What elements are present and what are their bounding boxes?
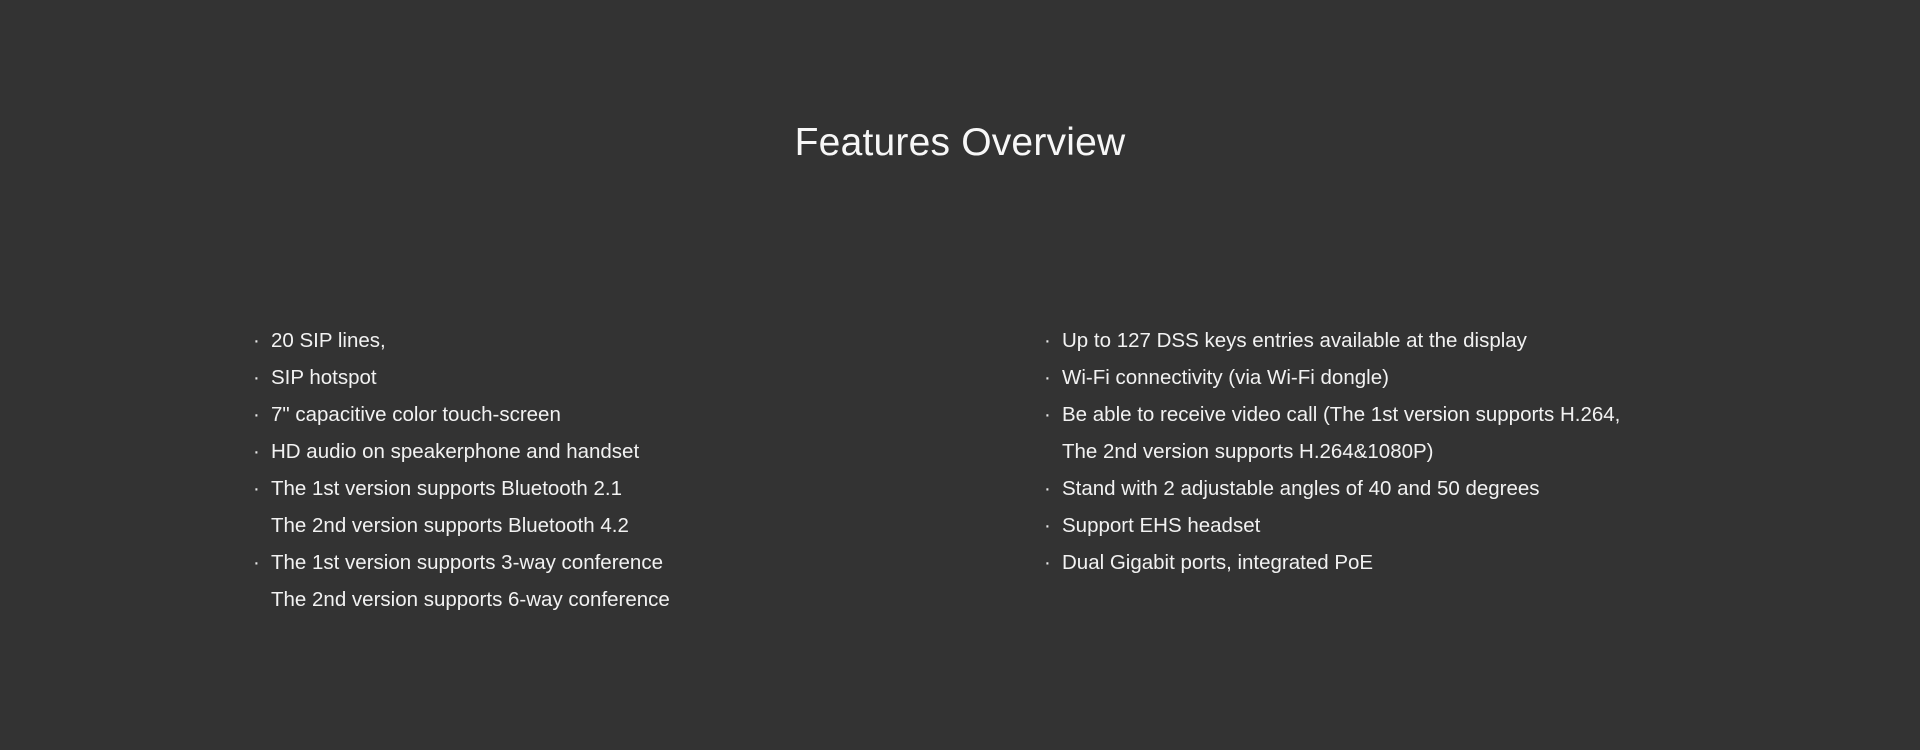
feature-bullet-line: ·Stand with 2 adjustable angles of 40 an… [1044,470,1884,507]
feature-columns: ·20 SIP lines,·SIP hotspot·7" capacitive… [0,322,1920,652]
slide-canvas: Features Overview ·20 SIP lines,·SIP hot… [0,0,1920,750]
bullet-dot-icon: · [1044,470,1058,507]
bullet-dot-icon: · [253,433,267,470]
bullet-dot-icon: · [253,396,267,433]
feature-text: SIP hotspot [271,366,377,389]
page-title: Features Overview [0,120,1920,167]
feature-continuation-line: The 2nd version supports H.264&1080P) [1044,433,1884,470]
feature-text: 7" capacitive color touch-screen [271,403,561,426]
feature-item: ·The 1st version supports Bluetooth 2.1T… [253,470,1013,544]
bullet-dot-icon: · [253,322,267,359]
feature-bullet-line: ·SIP hotspot [253,359,1013,396]
bullet-dot-icon: · [1044,396,1058,433]
feature-bullet-line: ·Wi-Fi connectivity (via Wi-Fi dongle) [1044,359,1884,396]
feature-item: ·Wi-Fi connectivity (via Wi-Fi dongle) [1044,359,1884,396]
feature-item: ·Be able to receive video call (The 1st … [1044,396,1884,470]
feature-item: ·Stand with 2 adjustable angles of 40 an… [1044,470,1884,507]
bullet-dot-icon: · [1044,359,1058,396]
feature-bullet-line: ·HD audio on speakerphone and handset [253,433,1013,470]
feature-item: ·HD audio on speakerphone and handset [253,433,1013,470]
feature-text: The 1st version supports 3-way conferenc… [271,551,663,574]
feature-text: The 2nd version supports H.264&1080P) [1062,440,1434,463]
feature-item: ·7" capacitive color touch-screen [253,396,1013,433]
feature-item: ·Up to 127 DSS keys entries available at… [1044,322,1884,359]
feature-item: ·Dual Gigabit ports, integrated PoE [1044,544,1884,581]
feature-text: Up to 127 DSS keys entries available at … [1062,329,1527,352]
feature-text: Wi-Fi connectivity (via Wi-Fi dongle) [1062,366,1389,389]
feature-text: Be able to receive video call (The 1st v… [1062,403,1620,426]
feature-text: The 2nd version supports 6-way conferenc… [271,588,670,611]
feature-bullet-line: ·Be able to receive video call (The 1st … [1044,396,1884,433]
bullet-dot-icon: · [253,470,267,507]
feature-text: The 2nd version supports Bluetooth 4.2 [271,514,629,537]
bullet-dot-icon: · [253,544,267,581]
feature-item: ·The 1st version supports 3-way conferen… [253,544,1013,618]
feature-continuation-line: The 2nd version supports Bluetooth 4.2 [253,507,1013,544]
feature-text: Dual Gigabit ports, integrated PoE [1062,551,1373,574]
feature-text: The 1st version supports Bluetooth 2.1 [271,477,622,500]
bullet-dot-icon: · [1044,507,1058,544]
right-feature-column: ·Up to 127 DSS keys entries available at… [1044,322,1884,581]
feature-bullet-line: ·20 SIP lines, [253,322,1013,359]
feature-item: ·20 SIP lines, [253,322,1013,359]
feature-text: HD audio on speakerphone and handset [271,440,639,463]
bullet-dot-icon: · [1044,544,1058,581]
right-feature-list: ·Up to 127 DSS keys entries available at… [1044,322,1884,581]
feature-item: ·SIP hotspot [253,359,1013,396]
feature-bullet-line: ·Up to 127 DSS keys entries available at… [1044,322,1884,359]
feature-bullet-line: ·Dual Gigabit ports, integrated PoE [1044,544,1884,581]
feature-text: Stand with 2 adjustable angles of 40 and… [1062,477,1540,500]
feature-bullet-line: ·7" capacitive color touch-screen [253,396,1013,433]
bullet-dot-icon: · [1044,322,1058,359]
feature-item: ·Support EHS headset [1044,507,1884,544]
feature-bullet-line: ·Support EHS headset [1044,507,1884,544]
feature-continuation-line: The 2nd version supports 6-way conferenc… [253,581,1013,618]
feature-bullet-line: ·The 1st version supports Bluetooth 2.1 [253,470,1013,507]
feature-text: Support EHS headset [1062,514,1260,537]
feature-bullet-line: ·The 1st version supports 3-way conferen… [253,544,1013,581]
left-feature-column: ·20 SIP lines,·SIP hotspot·7" capacitive… [253,322,1013,618]
left-feature-list: ·20 SIP lines,·SIP hotspot·7" capacitive… [253,322,1013,618]
bullet-dot-icon: · [253,359,267,396]
feature-text: 20 SIP lines, [271,329,386,352]
